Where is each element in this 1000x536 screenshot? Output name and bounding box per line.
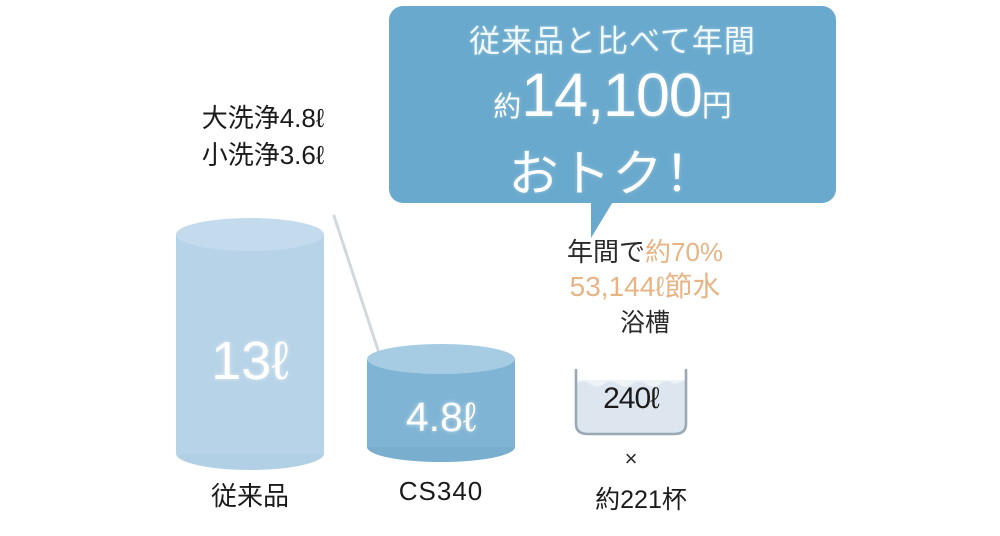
multiplication-sign: × [572,446,690,472]
bubble-amount-value: 14,100 [521,61,702,129]
cylinder-legacy-value: 13ℓ [176,330,324,392]
savings-callout-bubble: 従来品と比べて年間 約14,100円 おトク！ [389,6,836,203]
bathtub-cups-count: 約221杯 [551,480,731,516]
savings-percent-prefix: 年間で [567,237,645,267]
cylinder-cs340-top [367,344,515,374]
bubble-amount-unit: 円 [702,90,732,123]
wash-volume-specs: 大洗浄4.8ℓ 小洗浄3.6ℓ [158,100,368,174]
bubble-headline: 従来品と比べて年間 [389,20,836,64]
annual-savings-block: 年間で約70% 53,144ℓ節水 浴槽 [520,236,770,340]
bubble-benefit-text: おトク！ [389,143,836,205]
infographic-canvas: 従来品と比べて年間 約14,100円 おトク！ 大洗浄4.8ℓ 小洗浄3.6ℓ … [0,0,1000,536]
category-label-cs340: CS340 [367,476,515,507]
cylinder-legacy-top [176,218,324,251]
savings-percent-value: 約70% [645,237,723,267]
small-wash-spec: 小洗浄3.6ℓ [158,137,368,174]
bubble-tail-pointer [591,200,614,238]
savings-percent-line: 年間で約70% [520,236,770,269]
large-wash-spec: 大洗浄4.8ℓ [158,100,368,137]
cylinder-cs340-value: 4.8ℓ [367,394,515,441]
bathtub-caption: 浴槽 [520,306,770,340]
bubble-amount-row: 約14,100円 [389,64,836,143]
savings-liters-line: 53,144ℓ節水 [520,269,770,305]
category-label-legacy: 従来品 [176,476,324,513]
bubble-amount-prefix: 約 [493,91,521,122]
bathtub-volume-value: 240ℓ [572,382,690,416]
